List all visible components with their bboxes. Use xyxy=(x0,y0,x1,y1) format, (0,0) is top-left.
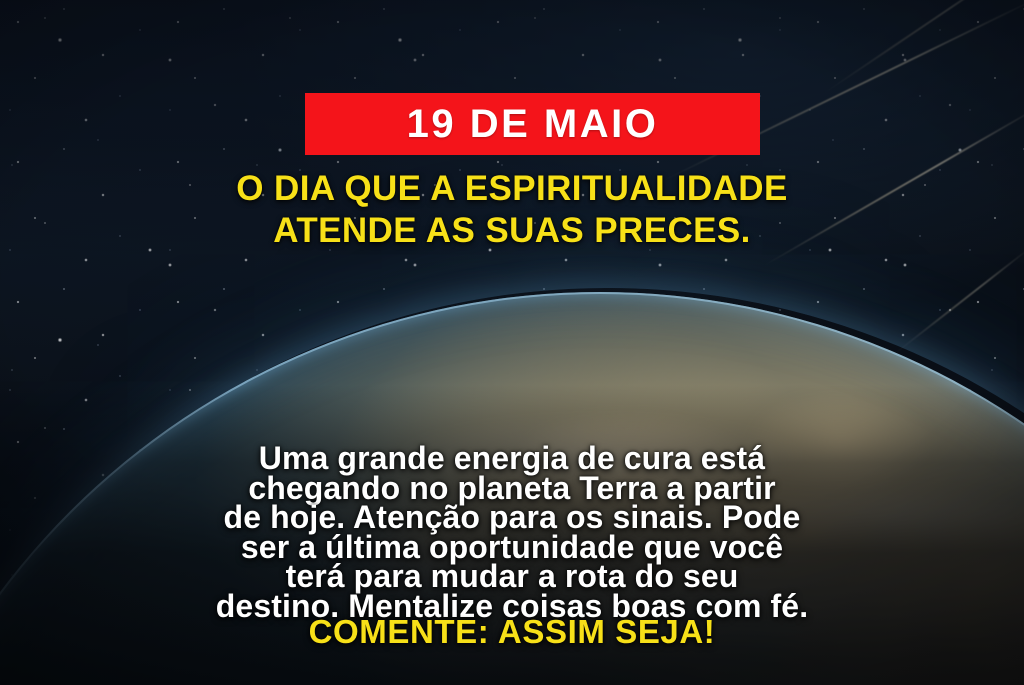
call-to-action-text: COMENTE: ASSIM SEJA! xyxy=(0,614,1024,650)
poster-content: 19 DE MAIO O DIA QUE A ESPIRITUALIDADE A… xyxy=(0,0,1024,685)
date-banner: 19 DE MAIO xyxy=(305,93,760,155)
poster-canvas: 19 DE MAIO O DIA QUE A ESPIRITUALIDADE A… xyxy=(0,0,1024,685)
date-banner-label: 19 DE MAIO xyxy=(407,104,659,144)
headline: O DIA QUE A ESPIRITUALIDADE ATENDE AS SU… xyxy=(0,168,1024,252)
headline-line-1: O DIA QUE A ESPIRITUALIDADE xyxy=(0,168,1024,210)
headline-line-2: ATENDE AS SUAS PRECES. xyxy=(0,210,1024,252)
body-paragraph: Uma grande energia de cura está chegando… xyxy=(0,444,1024,621)
